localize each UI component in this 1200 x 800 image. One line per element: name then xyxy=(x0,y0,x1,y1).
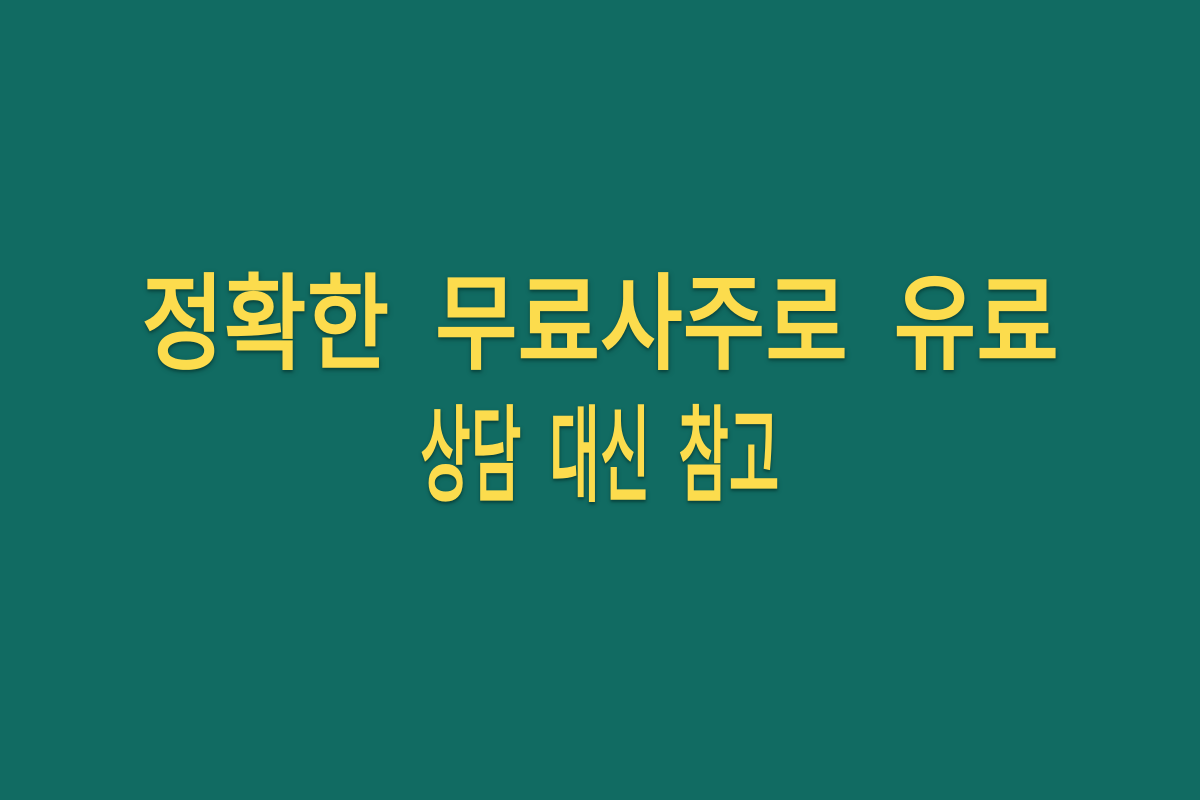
banner-canvas: 정확한 무료사주로 유료 상담 대신 참고 xyxy=(0,0,1200,800)
headline-line-2: 상담 대신 참고 xyxy=(420,401,779,511)
headline-line-1: 정확한 무료사주로 유료 xyxy=(141,269,1058,379)
headline-block: 정확한 무료사주로 유료 상담 대신 참고 xyxy=(0,269,1200,511)
